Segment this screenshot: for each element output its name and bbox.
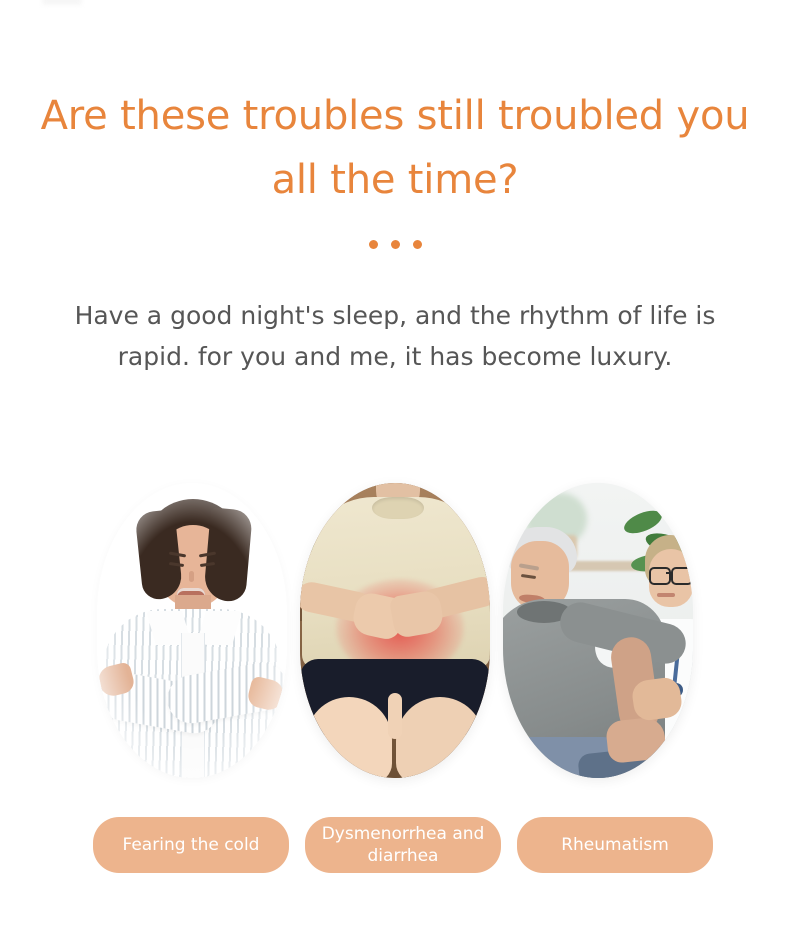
dot-icon	[391, 240, 400, 249]
dot-icon	[413, 240, 422, 249]
page-title: Are these troubles still troubled you al…	[26, 0, 764, 212]
symptom-label-joint-pain[interactable]: Rheumatism	[517, 817, 713, 873]
symptom-image-abdominal-pain[interactable]	[300, 483, 490, 778]
symptom-label-list: Fearing the cold Dysmenorrhea and diarrh…	[93, 817, 713, 873]
illustration-abdominal-pain	[300, 483, 490, 778]
three-dots-separator	[26, 240, 764, 249]
dot-icon	[369, 240, 378, 249]
symptom-label-abdominal-pain[interactable]: Dysmenorrhea and diarrhea	[305, 817, 501, 873]
symptom-card-list	[97, 483, 693, 778]
symptom-image-cold[interactable]	[97, 483, 287, 778]
illustration-cold	[97, 483, 287, 778]
troubles-section: Are these troubles still troubled you al…	[0, 0, 790, 932]
section-subtitle: Have a good night's sleep, and the rhyth…	[26, 295, 764, 377]
illustration-joint-pain	[503, 483, 693, 778]
symptom-image-joint-pain[interactable]	[503, 483, 693, 778]
symptom-label-cold[interactable]: Fearing the cold	[93, 817, 289, 873]
